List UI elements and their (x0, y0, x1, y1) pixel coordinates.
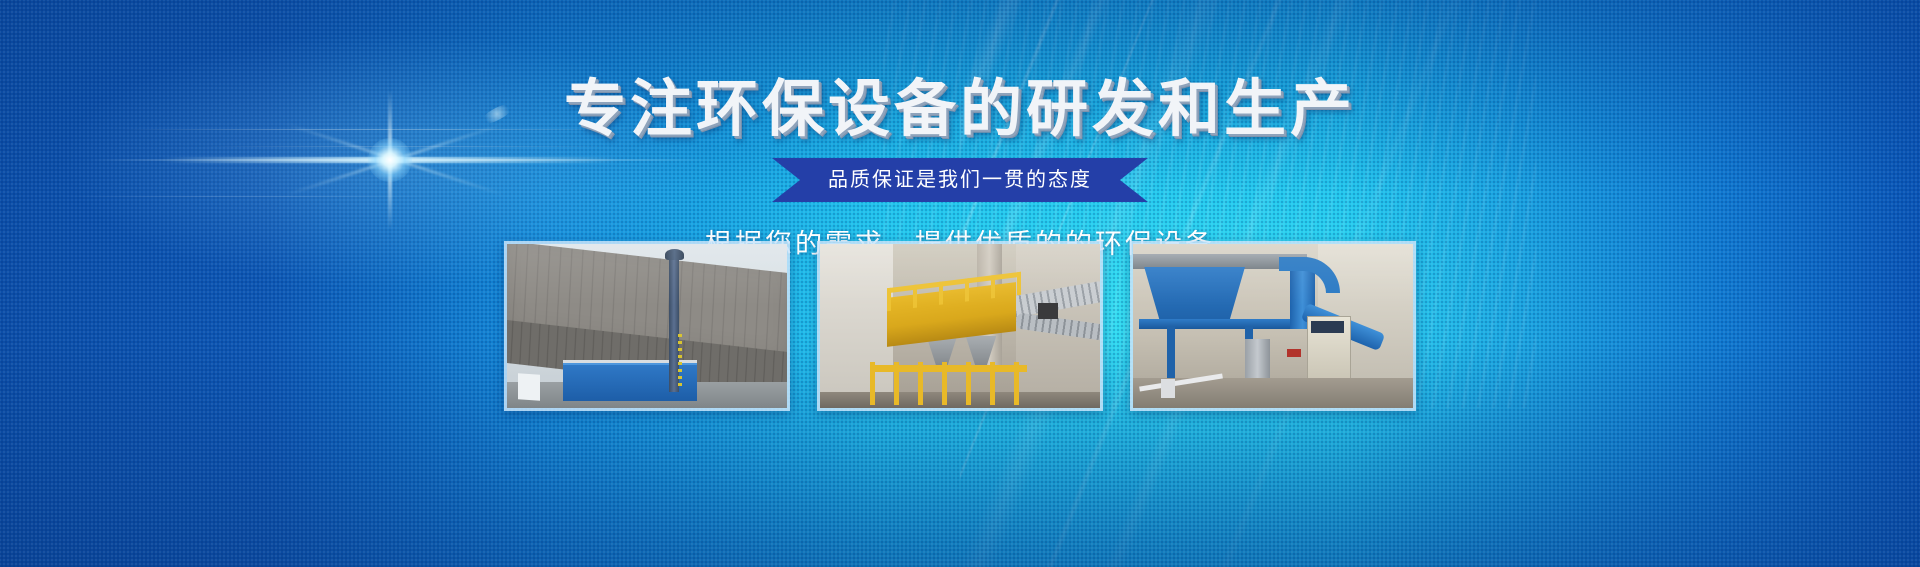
photo-gallery (0, 241, 1920, 411)
photo-yellow-platform[interactable] (817, 241, 1103, 411)
page-title: 专注环保设备的研发和生产 (0, 58, 1920, 148)
tagline-badge-wrapper: 品质保证是我们一贯的态度 (0, 158, 1920, 202)
promo-banner: 专注环保设备的研发和生产 品质保证是我们一贯的态度 根据您的需求，提供优质的的环… (0, 0, 1920, 567)
photo-blue-ducting[interactable] (1130, 241, 1416, 411)
tagline-badge: 品质保证是我们一贯的态度 (772, 158, 1148, 202)
photo-factory-stack[interactable] (504, 241, 790, 411)
